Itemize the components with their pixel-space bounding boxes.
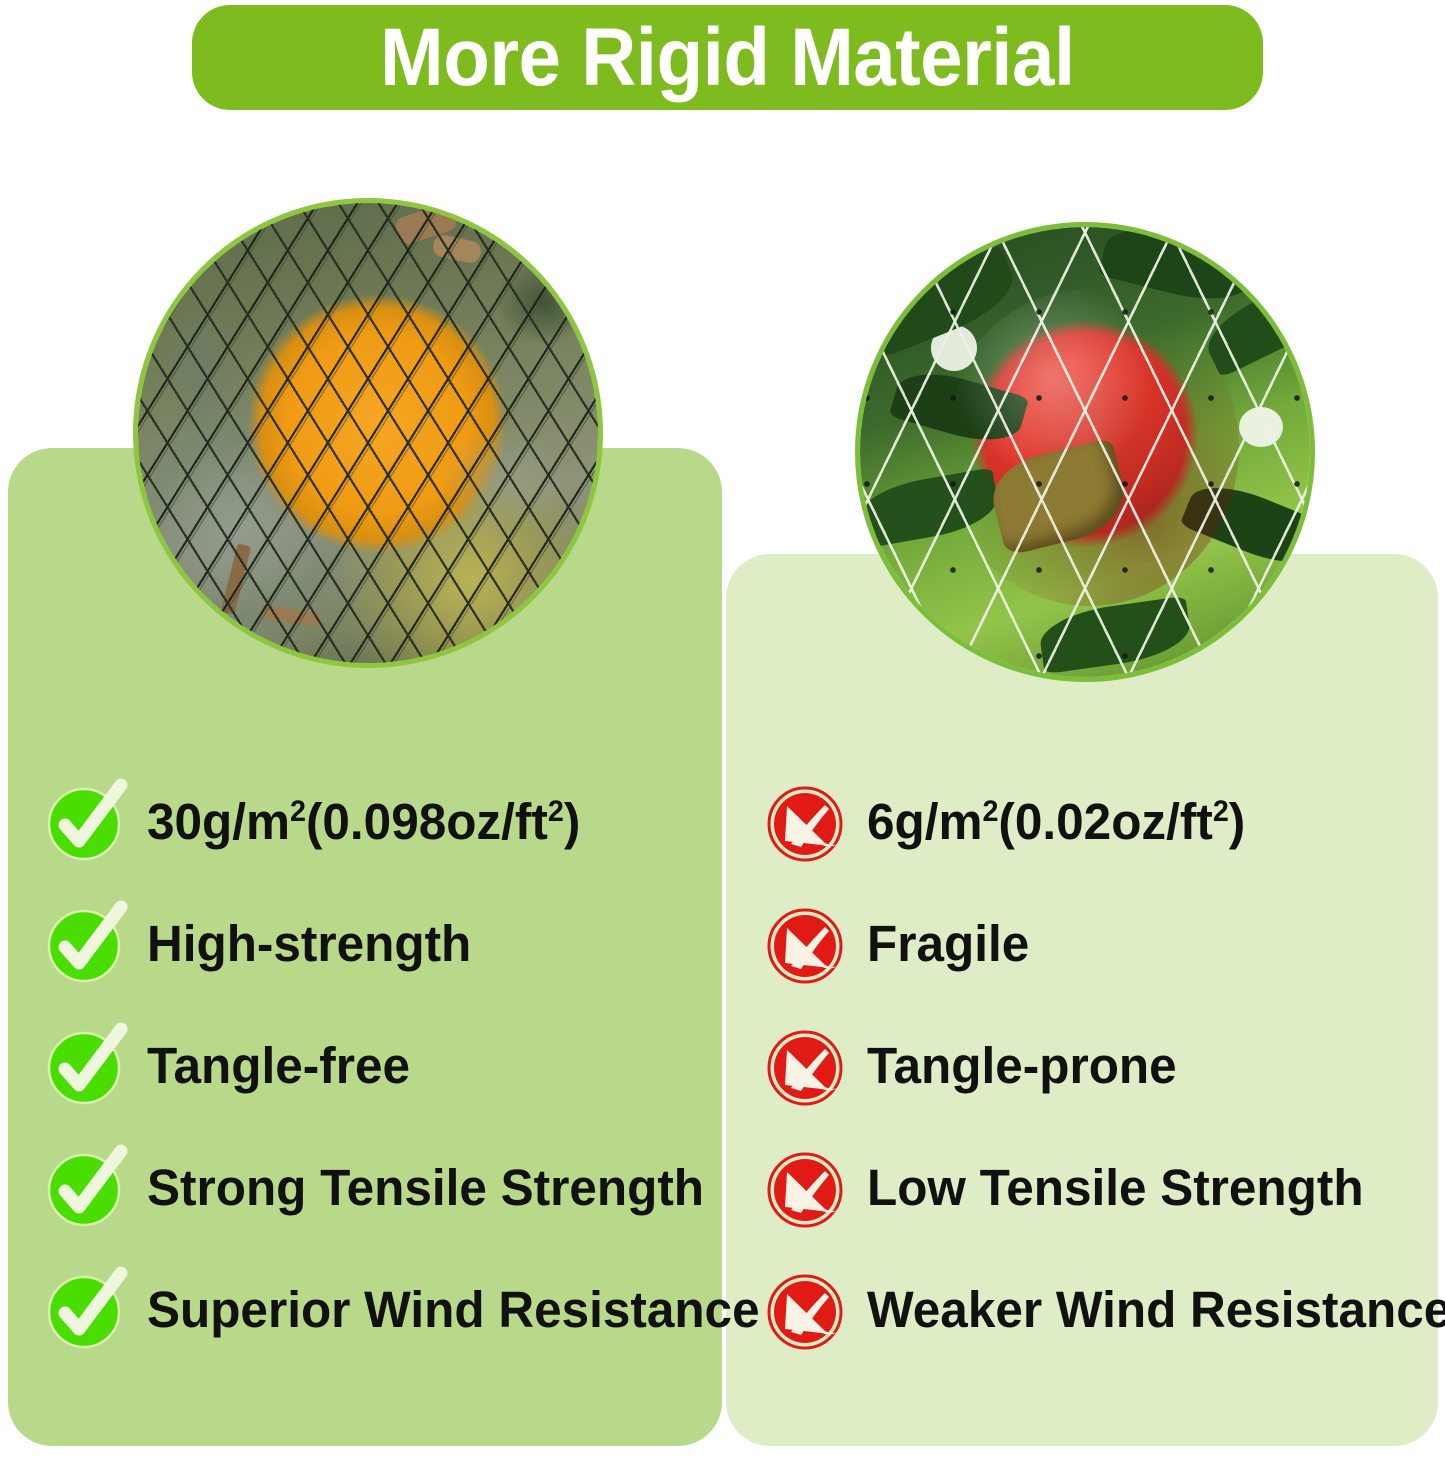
cross-icon [765, 1147, 847, 1229]
list-item: 30g/m2(0.098oz/ft2) [45, 778, 705, 866]
list-item-label: 30g/m2(0.098oz/ft2) [147, 794, 580, 850]
product-photo-left [133, 198, 603, 668]
list-item: Superior Wind Resistance [45, 1266, 705, 1354]
list-item-label: Superior Wind Resistance [147, 1282, 760, 1338]
list-item: Fragile [765, 900, 1430, 988]
page-title: More Rigid Material [380, 17, 1075, 99]
list-item-label: High-strength [147, 916, 471, 972]
list-item: High-strength [45, 900, 705, 988]
red-pomegranate-behind-loose-white-net-photo [860, 227, 1310, 677]
list-item: Strong Tensile Strength [45, 1144, 705, 1232]
cross-icon [765, 781, 847, 863]
check-icon [45, 903, 127, 985]
list-item-label: Tangle-free [147, 1038, 410, 1094]
cross-icon [765, 1025, 847, 1107]
list-item: Tangle-prone [765, 1022, 1430, 1110]
check-icon [45, 1025, 127, 1107]
list-item-label: Strong Tensile Strength [147, 1160, 704, 1216]
fine-net-overlay-highlight [138, 203, 598, 663]
check-icon [45, 781, 127, 863]
list-item: Low Tensile Strength [765, 1144, 1430, 1232]
check-icon [45, 1147, 127, 1229]
orange-persimmon-behind-fine-dark-net-photo [138, 203, 598, 663]
list-item-label: Low Tensile Strength [867, 1160, 1364, 1216]
product-photo-right [855, 222, 1315, 682]
cross-icon [765, 1269, 847, 1351]
list-item-label: Weaker Wind Resistance [867, 1282, 1445, 1338]
list-item: 6g/m2(0.02oz/ft2) [765, 778, 1430, 866]
list-item-label: Tangle-prone [867, 1038, 1177, 1094]
net-knot-dots [860, 227, 1310, 677]
check-icon [45, 1269, 127, 1351]
list-item-label: Fragile [867, 916, 1029, 972]
page-title-banner: More Rigid Material [192, 5, 1263, 110]
feature-list-right: 6g/m2(0.02oz/ft2) Fragile Tangle-prone [765, 778, 1430, 1388]
list-item: Tangle-free [45, 1022, 705, 1110]
list-item-label: 6g/m2(0.02oz/ft2) [867, 794, 1245, 850]
list-item: Weaker Wind Resistance [765, 1266, 1430, 1354]
feature-list-left: 30g/m2(0.098oz/ft2) High-strength Tangle… [45, 778, 705, 1388]
cross-icon [765, 903, 847, 985]
